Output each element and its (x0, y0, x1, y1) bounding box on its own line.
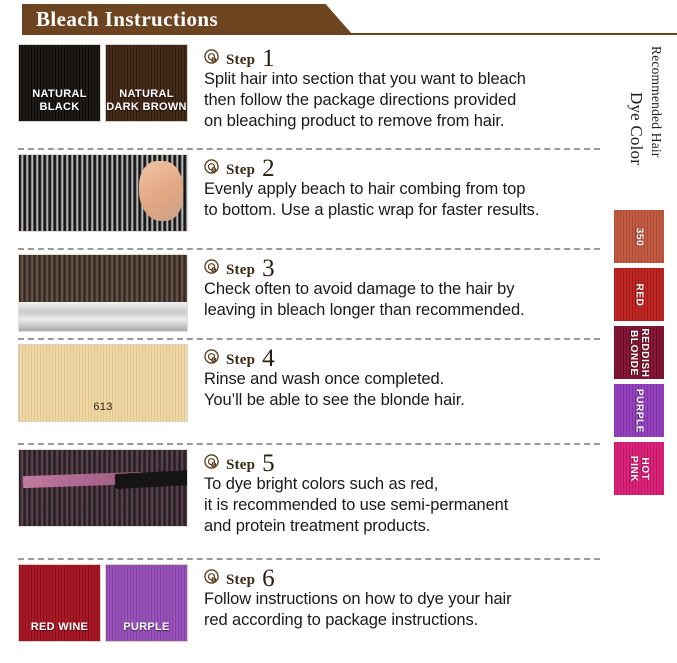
swirl-icon (204, 159, 219, 174)
sidebar-title-line2: Dye Color (626, 92, 646, 165)
step-text: Step2Evenly apply beach to hair combing … (200, 154, 606, 221)
step-word: Step (226, 352, 255, 369)
step-row: NATURALBLACKNATURALDARK BROWNStep1Split … (0, 40, 606, 150)
step-description: Evenly apply beach to hair combing from … (204, 179, 600, 221)
hair-swatch: RED WINE (18, 564, 101, 642)
page-title: Bleach Instructions (36, 6, 218, 33)
step-text: Step1Split hair into section that you wa… (200, 44, 606, 132)
header-banner: Bleach Instructions (22, 4, 352, 34)
step-row: RED WINEPURPLEStep6Follow instructions o… (0, 560, 606, 655)
step-description-line: red according to package instructions. (204, 610, 600, 631)
step-number: 2 (262, 156, 275, 181)
step-number: 6 (262, 566, 275, 591)
swirl-icon (204, 259, 219, 274)
step-row: 613Step4Rinse and wash once completed.Yo… (0, 340, 606, 445)
step-description-line: Split hair into section that you want to… (204, 69, 600, 90)
dye-swatch-label: PURPLE (634, 388, 645, 432)
step-text: Step6Follow instructions on how to dye y… (200, 564, 606, 631)
swatch-label: PURPLE (106, 621, 187, 634)
sidebar-title-line1: Recommended Hair (648, 46, 664, 158)
step-description-line: To dye bright colors such as red, (204, 474, 600, 495)
step-number: 3 (262, 256, 275, 281)
step-description-line: Evenly apply beach to hair combing from … (204, 179, 600, 200)
dye-swatch-label: REDDISHBLONDE (628, 328, 650, 377)
swirl-icon (204, 569, 219, 584)
dye-swatch-list: 350REDREDDISHBLONDEPURPLEHOTPINK (614, 210, 664, 500)
dye-swatch-label: RED (634, 283, 645, 306)
photo-hair-texture (19, 255, 187, 302)
photo-foil (19, 302, 187, 331)
step-word: Step (226, 162, 255, 179)
step-row: Step2Evenly apply beach to hair combing … (0, 150, 606, 250)
step-row: Step5To dye bright colors such as red,it… (0, 445, 606, 560)
swatch-label: NATURALBLACK (19, 88, 100, 114)
swirl-icon (204, 49, 219, 64)
step-description-line: it is recommended to use semi-permanent (204, 495, 600, 516)
step-row: Step3Check often to avoid damage to the … (0, 250, 606, 340)
step-heading: Step2 (204, 154, 600, 176)
step-heading: Step6 (204, 564, 600, 586)
step-description: Follow instructions on how to dye your h… (204, 589, 600, 631)
dye-swatch-label: 350 (634, 227, 645, 246)
dye-swatch-label: HOTPINK (628, 455, 650, 481)
step-word: Step (226, 572, 255, 589)
swirl-icon (204, 454, 219, 469)
step-media: RED WINEPURPLE (18, 564, 188, 642)
step-description-line: Follow instructions on how to dye your h… (204, 589, 600, 610)
step-number: 4 (262, 346, 275, 371)
step-text: Step5To dye bright colors such as red,it… (200, 449, 606, 537)
step-description: Check often to avoid damage to the hair … (204, 279, 600, 321)
step-heading: Step3 (204, 254, 600, 276)
step-media (18, 254, 188, 332)
swatch-label: NATURALDARK BROWN (106, 88, 187, 114)
step-word: Step (226, 262, 255, 279)
sidebar-title: Recommended Hair Dye Color (606, 42, 677, 202)
step-number: 1 (262, 46, 275, 71)
step-media (18, 154, 188, 232)
step-number: 5 (262, 451, 275, 476)
dye-swatch: PURPLE (614, 384, 664, 437)
step-description-line: and protein treatment products. (204, 516, 600, 537)
photo-applying-bleach (18, 154, 188, 232)
step-media: 613 (18, 344, 188, 422)
hair-swatch-pair: RED WINEPURPLE (18, 564, 188, 642)
hair-swatch: NATURALBLACK (18, 44, 101, 122)
photo-comb-dye (18, 449, 188, 527)
dye-swatch: HOTPINK (614, 442, 664, 495)
swirl-icon (204, 349, 219, 364)
header-divider (22, 33, 677, 35)
step-heading: Step5 (204, 449, 600, 471)
dye-swatch: RED (614, 268, 664, 321)
step-description-line: on bleaching product to remove from hair… (204, 111, 600, 132)
photo-hair-on-foil (18, 254, 188, 332)
step-word: Step (226, 457, 255, 474)
step-description: Rinse and wash once completed.You’ll be … (204, 369, 600, 411)
step-description-line: leaving in bleach longer than recommende… (204, 300, 600, 321)
step-heading: Step4 (204, 344, 600, 366)
swatch-label: RED WINE (19, 621, 100, 634)
photo-hand (139, 161, 183, 221)
step-text: Step3Check often to avoid damage to the … (200, 254, 606, 321)
step-media: NATURALBLACKNATURALDARK BROWN (18, 44, 188, 122)
step-description-line: Check often to avoid damage to the hair … (204, 279, 600, 300)
recommended-dye-sidebar: Recommended Hair Dye Color 350REDREDDISH… (606, 40, 677, 540)
step-heading: Step1 (204, 44, 600, 66)
dye-swatch: 350 (614, 210, 664, 263)
dye-swatch: REDDISHBLONDE (614, 326, 664, 379)
step-description-line: then follow the package directions provi… (204, 90, 600, 111)
step-description: To dye bright colors such as red,it is r… (204, 474, 600, 537)
step-media (18, 449, 188, 527)
step-description-line: Rinse and wash once completed. (204, 369, 600, 390)
hair-swatch-pair: NATURALBLACKNATURALDARK BROWN (18, 44, 188, 122)
step-description: Split hair into section that you want to… (204, 69, 600, 132)
steps-list: NATURALBLACKNATURALDARK BROWNStep1Split … (0, 40, 606, 655)
step-text: Step4Rinse and wash once completed.You’l… (200, 344, 606, 411)
step-word: Step (226, 52, 255, 69)
step-description-line: to bottom. Use a plastic wrap for faster… (204, 200, 600, 221)
hair-swatch-blonde: 613 (18, 344, 188, 422)
step-description-line: You’ll be able to see the blonde hair. (204, 390, 600, 411)
swatch-label: 613 (19, 401, 187, 414)
photo-hair-texture (19, 450, 187, 526)
hair-swatch: PURPLE (105, 564, 188, 642)
hair-swatch: NATURALDARK BROWN (105, 44, 188, 122)
